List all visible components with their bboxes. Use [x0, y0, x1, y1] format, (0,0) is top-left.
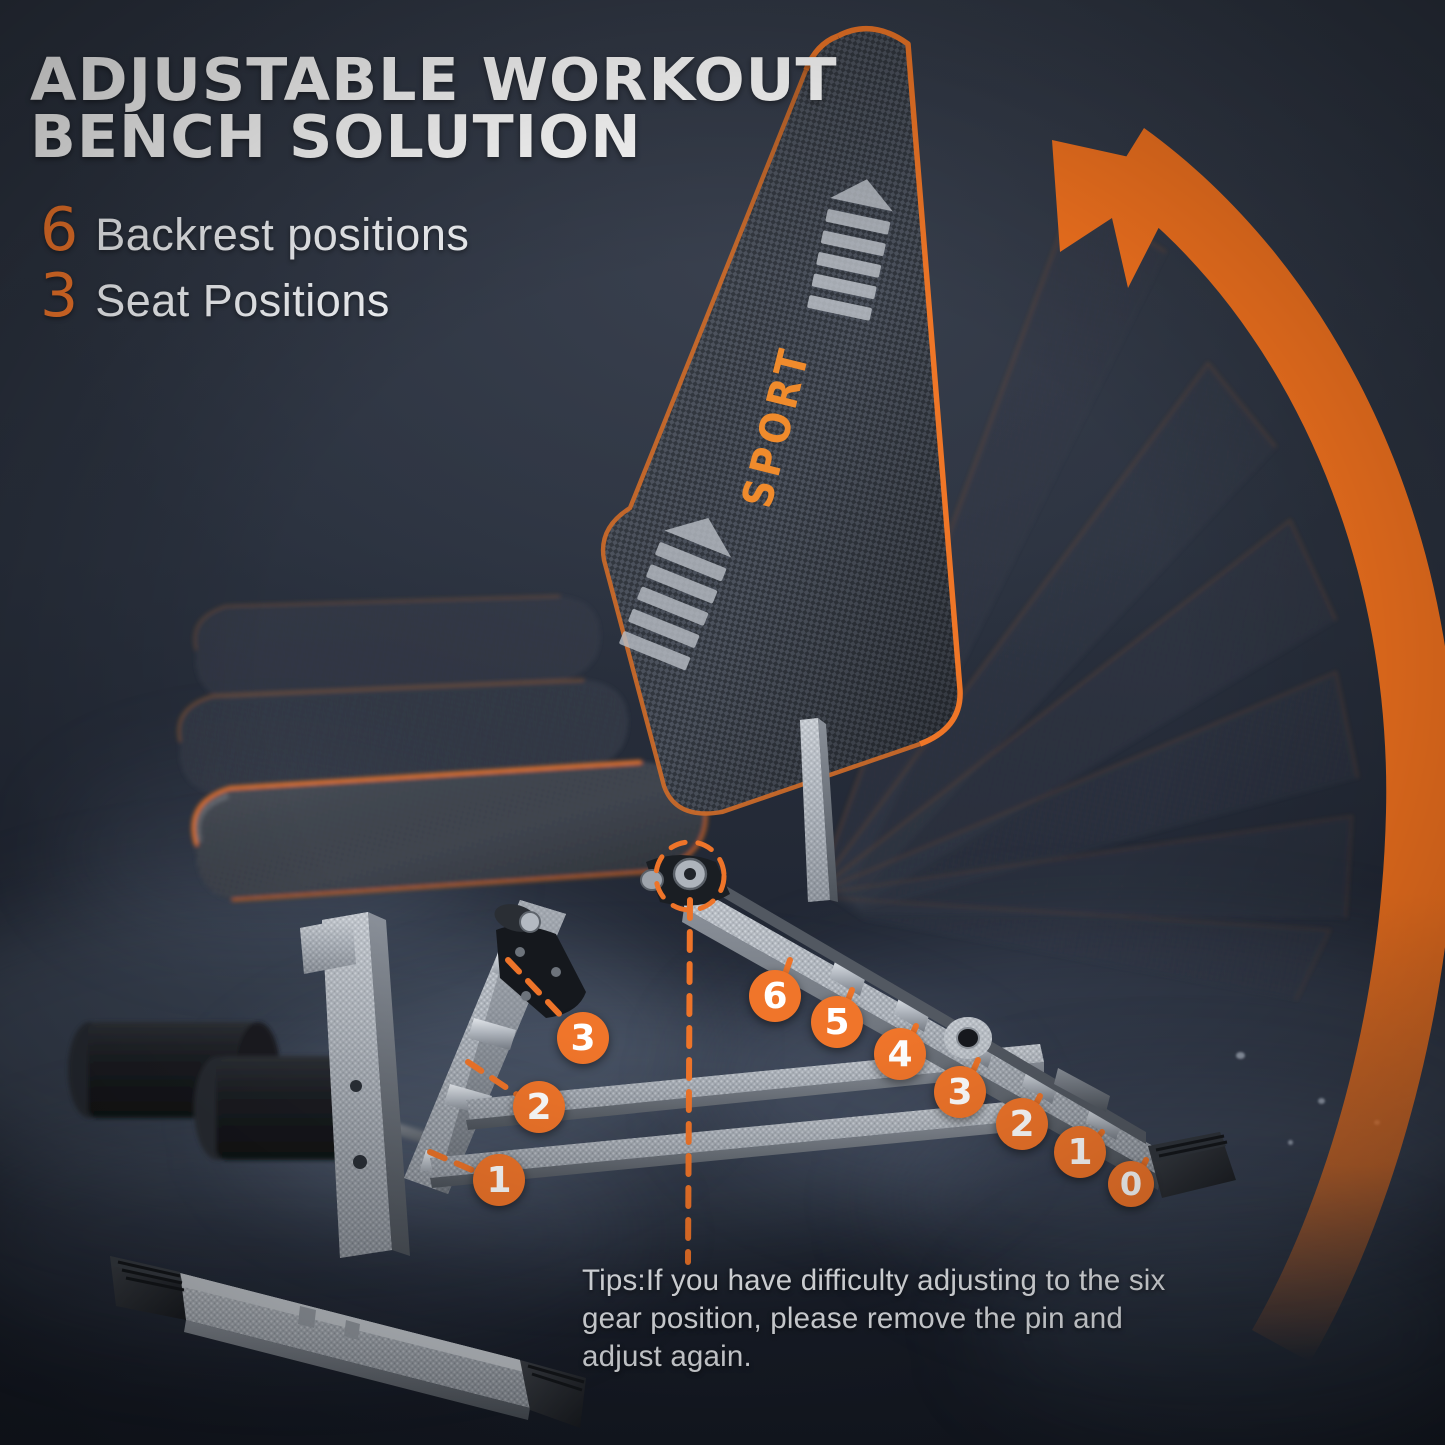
backrest-position-badge-1: 1	[1054, 1126, 1106, 1178]
backrest-position-badge-4: 4	[874, 1028, 926, 1080]
backrest-position-badge-2: 2	[996, 1098, 1048, 1150]
rear-foot	[1148, 1132, 1236, 1198]
rear-pivot-bolt	[944, 1017, 992, 1059]
backrest-position-badge-0: 0	[1108, 1161, 1154, 1207]
seat-position-badge-1: 1	[473, 1154, 525, 1206]
ghost-seat-pads	[179, 596, 628, 794]
bullet-label: Seat Positions	[95, 278, 390, 323]
bullet-number: 3	[40, 266, 78, 326]
seat-position-badge-2: 2	[513, 1081, 565, 1133]
feature-bullet-backrest: 6 Backrest positions	[40, 200, 469, 260]
headline-line-2: Bench Solution	[30, 109, 826, 166]
headline-line-1: Adjustable Workout	[30, 52, 826, 109]
product-image-canvas: SPORT	[0, 0, 1445, 1445]
backrest-position-badge-3: 3	[934, 1066, 986, 1118]
feature-bullets: 6 Backrest positions 3 Seat Positions	[40, 200, 469, 332]
backrest-position-badge-5: 5	[811, 996, 863, 1048]
bullet-label: Backrest positions	[95, 212, 469, 257]
seat-position-badge-3: 3	[557, 1012, 609, 1064]
bullet-number: 6	[40, 200, 78, 260]
headline: Adjustable Workout Bench Solution	[30, 52, 826, 165]
backrest-pivot	[641, 855, 730, 906]
backrest-position-badge-6: 6	[749, 970, 801, 1022]
base-stabilizer	[110, 1256, 586, 1428]
feature-bullet-seat: 3 Seat Positions	[40, 266, 469, 326]
tips-text: Tips:If you have difficulty adjusting to…	[582, 1262, 1194, 1375]
